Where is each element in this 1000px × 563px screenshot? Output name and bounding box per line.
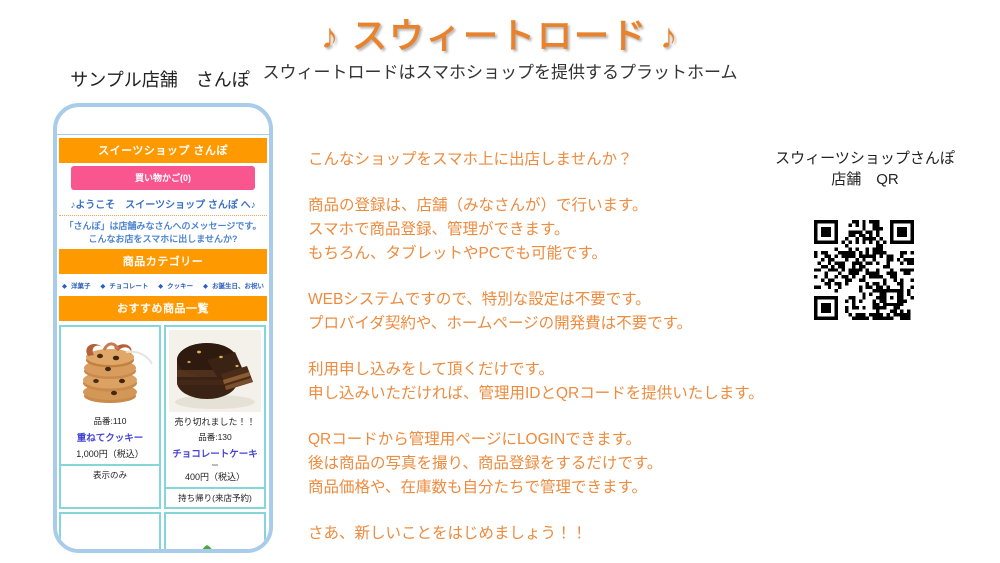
phone-screen: スイーツショップ さんぽ 買い物かご(0) ♪ようこそ スイーツショップ さんぽ…	[57, 134, 269, 553]
product-delivery: 表示のみ	[61, 464, 159, 484]
paragraph-1: こんなショップをスマホ上に出店しませんか？	[308, 148, 778, 172]
qr-caption-line-2: 店舗 QR	[745, 169, 985, 190]
copy-line: スマホで商品登録、管理ができます。	[308, 221, 570, 238]
product-price: 1,000円（税込）	[76, 447, 144, 460]
body-copy: こんなショップをスマホ上に出店しませんか？ 商品の登録は、店舗（みなさんが）で行…	[308, 148, 778, 546]
product-name[interactable]: 重ねてクッキー	[77, 430, 144, 444]
copy-line: 利用申し込みをして頂くだけです。	[308, 361, 554, 378]
slide-canvas: ♪ スウィートロード ♪ スウィートロードはスマホショップを提供するプラットホー…	[0, 0, 1000, 563]
product-code: 品番:110	[94, 415, 127, 427]
product-name[interactable]: チョコレートケーキ	[172, 446, 258, 460]
copy-line: 商品価格や、在庫数も自分たちで管理できます。	[308, 479, 647, 496]
product-delivery: 持ち帰り(来店予約)	[166, 487, 264, 507]
product-card[interactable]	[164, 512, 266, 553]
phone-mockup: スイーツショップ さんぽ 買い物かご(0) ♪ようこそ スイーツショップ さんぽ…	[53, 103, 273, 553]
product-card[interactable]	[59, 512, 161, 553]
copy-line: さあ、新しいことをはじめましょう！！	[308, 525, 587, 542]
category-link[interactable]: ◆洋菓子	[60, 283, 93, 290]
category-link-row: ◆洋菓子 ◆チョコレート ◆クッキー ◆お誕生日、お祝い	[58, 277, 268, 293]
recommend-header-bar: おすすめ商品一覧	[59, 296, 267, 321]
product-price: 400円（税込）	[185, 470, 245, 483]
copy-line: 商品の登録は、店舗（みなさんが）で行います。	[308, 197, 647, 214]
category-link[interactable]: ◆チョコレート	[98, 283, 150, 290]
copy-line: もちろん、タブレットやPCでも可能です。	[308, 245, 607, 262]
shop-message: 「さんぽ」は店舗みなさんへのメッセージです。 こんなお店をスマホに出しませんか?	[59, 220, 267, 246]
product-note: sss	[212, 462, 218, 467]
copy-line: QRコードから管理用ページにLOGINできます。	[308, 431, 641, 448]
product-image-mint-dessert	[169, 517, 261, 553]
paragraph-4: 利用申し込みをして頂くだけです。 申し込みいただければ、管理用IDとQRコードを…	[308, 358, 778, 406]
paragraph-3: WEBシステムですので、特別な設定は不要です。 プロバイダ契約や、ホームページの…	[308, 288, 778, 336]
category-link[interactable]: ◆クッキー	[156, 283, 195, 290]
copy-line: プロバイダ契約や、ホームページの開発費は不要です。	[308, 315, 692, 332]
shop-message-line-1: 「さんぽ」は店舗みなさんへのメッセージです。	[59, 220, 267, 233]
page-title: ♪ スウィートロード ♪	[0, 8, 1000, 59]
product-image-cookies	[64, 330, 156, 412]
paragraph-6: さあ、新しいことをはじめましょう！！	[308, 522, 778, 546]
diamond-bullet-icon: ◆	[100, 283, 105, 290]
diamond-bullet-icon: ◆	[203, 283, 208, 290]
diamond-bullet-icon: ◆	[158, 283, 163, 290]
copy-line: 申し込みいただければ、管理用IDとQRコードを提供いたします。	[308, 385, 764, 402]
qr-code[interactable]	[808, 220, 920, 320]
product-code: 品番:130	[198, 431, 232, 443]
shop-mock-caption: サンプル店舗 さんぽ	[30, 66, 290, 92]
copy-line: こんなショップをスマホ上に出店しませんか？	[308, 151, 633, 168]
qr-caption-line-1: スウィーツショップさんぽ	[745, 148, 985, 169]
paragraph-2: 商品の登録は、店舗（みなさんが）で行います。 スマホで商品登録、管理ができます。…	[308, 194, 778, 266]
product-card[interactable]: 品番:110 重ねてクッキー 1,000円（税込） 表示のみ	[59, 325, 161, 509]
product-grid: 品番:110 重ねてクッキー 1,000円（税込） 表示のみ	[59, 325, 267, 553]
category-link[interactable]: ◆お誕生日、お祝い	[201, 283, 266, 290]
diamond-bullet-icon: ◆	[62, 283, 67, 290]
product-card[interactable]: 売り切れました！！ 品番:130 チョコレートケーキ sss 400円（税込） …	[164, 325, 266, 509]
shop-header-bar: スイーツショップ さんぽ	[59, 138, 267, 163]
shop-message-line-2: こんなお店をスマホに出しませんか?	[59, 233, 267, 246]
copy-line: 後は商品の写真を撮り、商品登録をするだけです。	[308, 455, 662, 472]
category-header-bar: 商品カテゴリー	[59, 249, 267, 274]
product-image-chocolate-cake	[169, 330, 261, 412]
qr-caption: スウィーツショップさんぽ 店舗 QR	[745, 148, 985, 190]
welcome-text: ♪ようこそ スイーツショップ さんぽ へ♪	[59, 196, 267, 216]
shopping-cart-button[interactable]: 買い物かご(0)	[71, 166, 255, 190]
product-soldout-label: 売り切れました！！	[174, 415, 255, 428]
paragraph-5: QRコードから管理用ページにLOGINできます。 後は商品の写真を撮り、商品登録…	[308, 428, 778, 500]
copy-line: WEBシステムですので、特別な設定は不要です。	[308, 291, 651, 308]
qr-code-image	[808, 220, 920, 320]
product-image-chocolate-roll	[64, 517, 156, 553]
